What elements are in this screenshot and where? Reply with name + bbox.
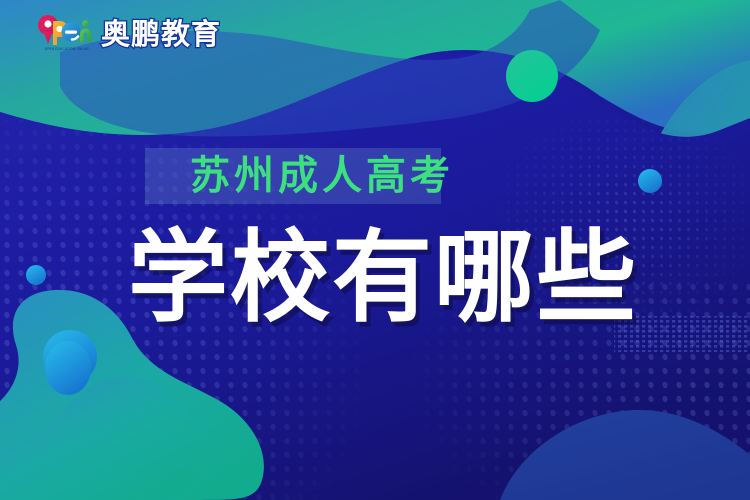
logo-tagline: OPEN EDUCATION ONLINE [41,45,93,52]
cyan-circle-right [638,169,662,193]
brand-name-text: 奥鹏教育 [101,20,221,49]
subtitle-text: 苏州成人高考 [190,150,454,202]
brand-logo[interactable]: OPEN EDUCATION ONLINE 奥鹏教育 [36,12,221,56]
cyan-circle-small-left [26,265,46,285]
headline-text: 学校有哪些 [128,222,638,334]
cyan-ellipse-bottom-left [45,341,91,395]
open-logo-icon: OPEN EDUCATION ONLINE [36,12,94,56]
promo-banner: OPEN EDUCATION ONLINE 奥鹏教育 苏州成人高考 学校有哪些 [0,0,750,500]
green-circle [506,50,558,102]
